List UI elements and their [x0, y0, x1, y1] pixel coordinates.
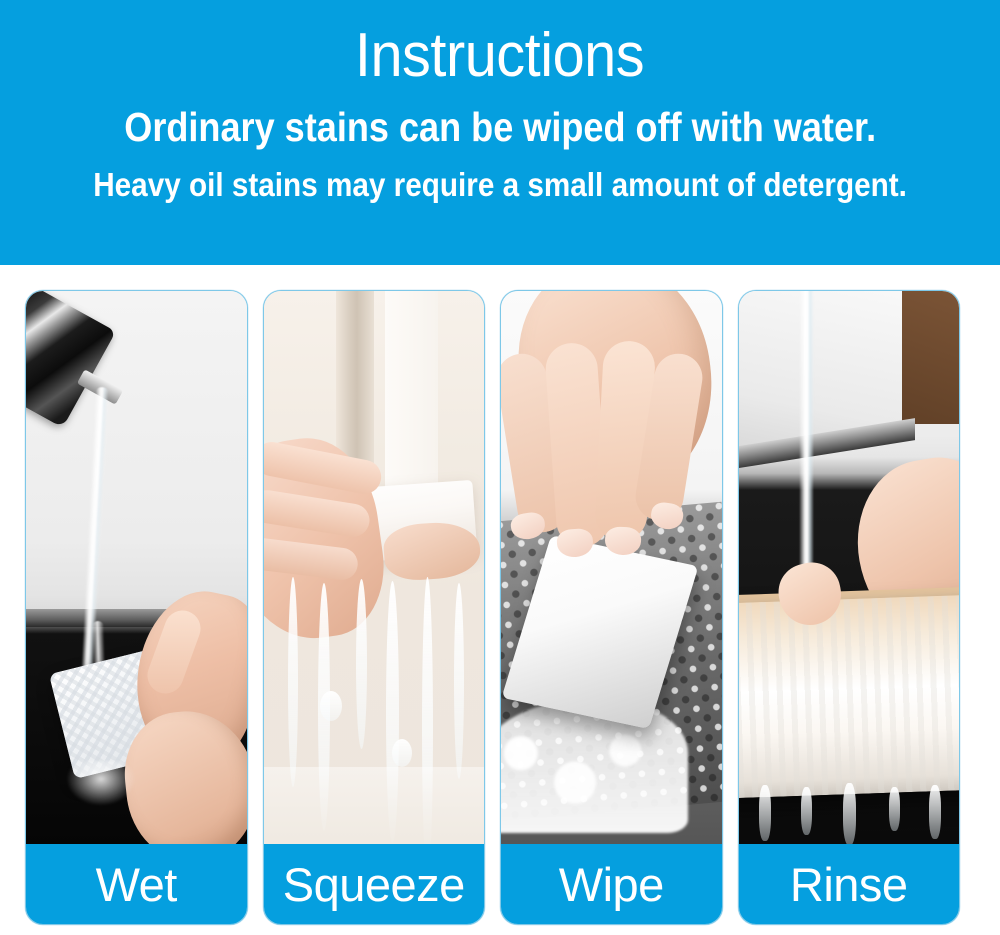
water-drip [356, 579, 367, 749]
sponge [739, 594, 960, 798]
step-label-squeeze: Squeeze [264, 844, 485, 924]
step-label-rinse: Rinse [739, 844, 960, 924]
water-drip [843, 783, 856, 844]
water-drip [889, 787, 900, 831]
water-droplet [392, 739, 412, 767]
steps-row: Wet [25, 290, 975, 925]
step-photo-wipe [501, 291, 722, 844]
water-splash [66, 761, 136, 806]
step-card-squeeze[interactable]: Squeeze [263, 290, 486, 925]
step-card-wipe[interactable]: Wipe [500, 290, 723, 925]
step-label-wet: Wet [26, 844, 247, 924]
water-puddle [264, 767, 485, 844]
background-panel [385, 291, 438, 512]
water-drip [288, 577, 298, 787]
water-drip [801, 787, 812, 835]
water-drip [759, 785, 771, 841]
soap-foam [501, 700, 688, 833]
header-banner: Instructions Ordinary stains can be wipe… [0, 0, 1000, 265]
step-card-rinse[interactable]: Rinse [738, 290, 961, 925]
step-photo-squeeze [264, 291, 485, 844]
instructions-page: Instructions Ordinary stains can be wipe… [0, 0, 1000, 935]
water-droplet [320, 691, 342, 721]
header-subtitle-secondary: Heavy oil stains may require a small amo… [93, 166, 907, 204]
page-title: Instructions [355, 22, 644, 90]
step-card-wet[interactable]: Wet [25, 290, 248, 925]
water-drip [929, 785, 941, 839]
step-photo-rinse [739, 291, 960, 844]
water-drip [454, 583, 464, 779]
header-subtitle-primary: Ordinary stains can be wiped off with wa… [124, 104, 876, 150]
step-label-wipe: Wipe [501, 844, 722, 924]
step-photo-wet [26, 291, 247, 844]
